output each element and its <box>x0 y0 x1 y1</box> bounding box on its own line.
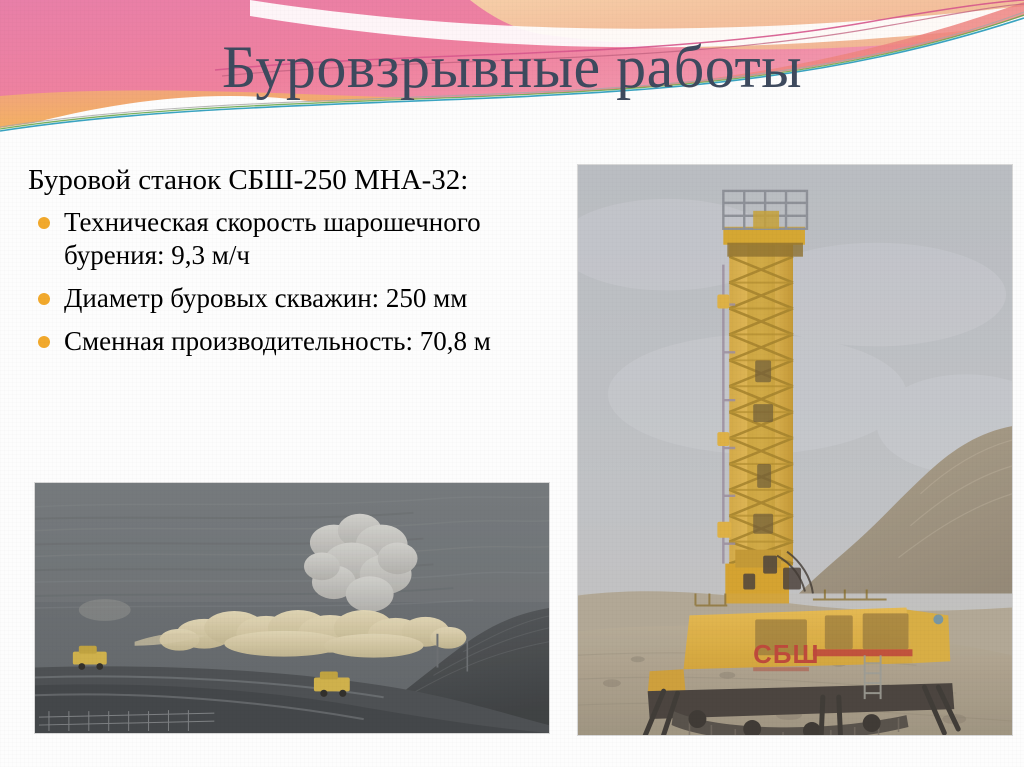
lead-paragraph: Буровой станок СБШ-250 МНА-32: <box>28 163 573 198</box>
presentation-slide: Буровзрывные работы Буровой станок СБШ-2… <box>0 0 1024 767</box>
bullet-dot-icon <box>38 217 50 229</box>
rig-photo-graphic: СБШ <box>578 165 1012 735</box>
drilling-rig-photo: СБШ <box>577 164 1013 736</box>
content-text-block: Буровой станок СБШ-250 МНА-32: Техническ… <box>28 163 573 368</box>
list-item: Диаметр буровых скважин: 250 мм <box>28 282 573 315</box>
bullet-dot-icon <box>38 336 50 348</box>
blast-photo-graphic <box>35 483 549 733</box>
bullet-dot-icon <box>38 293 50 305</box>
list-item-label: Диаметр буровых скважин: 250 мм <box>64 283 467 313</box>
list-item: Сменная производительность: 70,8 м <box>28 325 573 358</box>
page-title: Буровзрывные работы <box>0 36 1024 99</box>
open-pit-blast-photo <box>34 482 550 734</box>
list-item-label: Сменная производительность: 70,8 м <box>64 326 491 356</box>
list-item: Техническая скорость шарошечного бурения… <box>28 206 573 272</box>
bullet-list: Техническая скорость шарошечного бурения… <box>28 206 573 358</box>
list-item-label: Техническая скорость шарошечного бурения… <box>64 207 481 270</box>
